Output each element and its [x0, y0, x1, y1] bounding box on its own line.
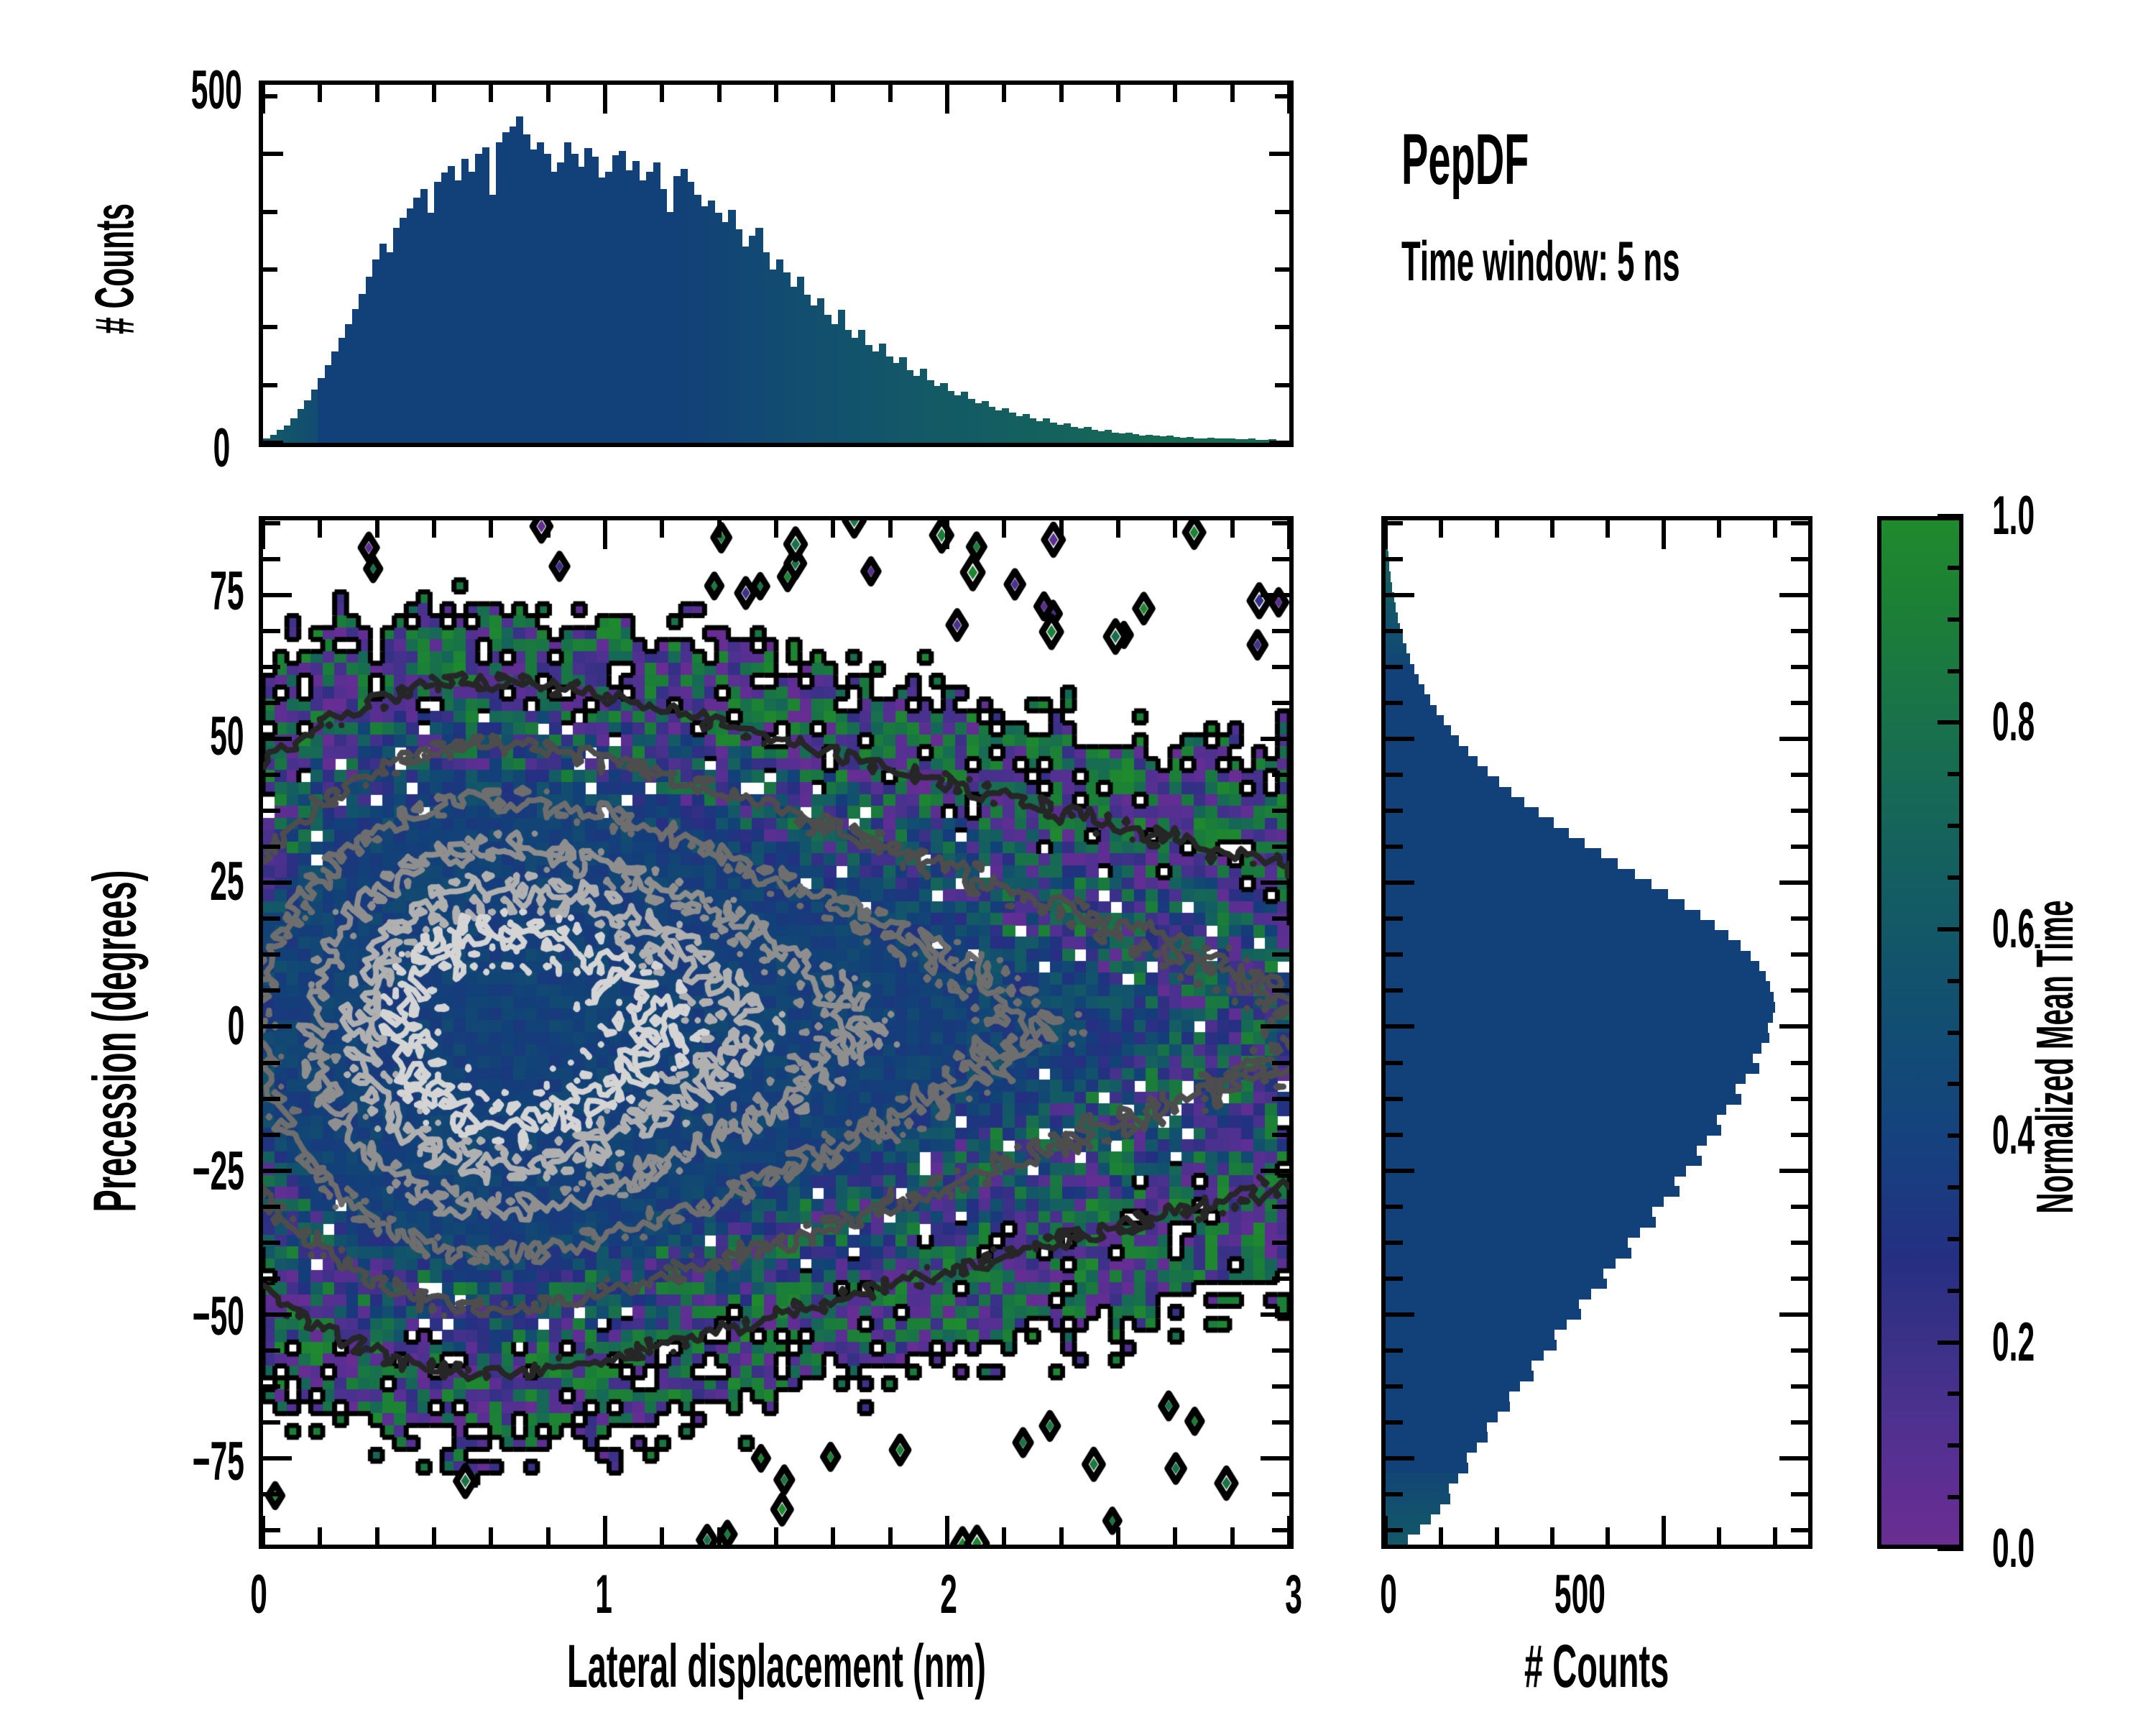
axis-tick — [318, 85, 322, 102]
axis-tick — [1386, 1528, 1403, 1532]
axis-tick — [1791, 845, 1808, 849]
axis-tick — [1002, 520, 1006, 538]
axis-tick — [1386, 665, 1403, 669]
axis-tick — [1173, 1527, 1177, 1545]
colorbar-tick — [1948, 617, 1963, 622]
axis-tick — [1791, 1133, 1808, 1137]
axis-tick — [1272, 988, 1289, 993]
axis-tick — [774, 520, 778, 538]
axis-tick — [263, 1348, 280, 1353]
axis-tick — [1272, 1528, 1289, 1532]
axis-tick — [263, 267, 277, 272]
axis-tick — [831, 1527, 835, 1545]
axis-tick — [1779, 593, 1808, 597]
colorbar-tick — [1948, 772, 1963, 776]
axis-tick — [603, 1516, 607, 1545]
colorbar-tick — [1948, 669, 1963, 673]
axis-tick — [1606, 1527, 1610, 1545]
right-histogram-ticks — [1386, 520, 1808, 1545]
main-plot-xtick-2: 2 — [884, 1563, 1013, 1626]
axis-tick — [1386, 1456, 1414, 1460]
axis-tick — [1550, 520, 1554, 538]
axis-tick — [888, 85, 893, 102]
axis-tick — [263, 737, 292, 741]
axis-tick — [1272, 773, 1289, 777]
colorbar-tick — [1948, 1133, 1963, 1138]
axis-tick — [263, 593, 292, 597]
axis-tick — [1791, 1205, 1808, 1209]
axis-tick — [1386, 1312, 1414, 1317]
colorbar-tick — [1948, 1031, 1963, 1035]
axis-tick — [263, 809, 280, 813]
axis-tick — [546, 520, 550, 538]
axis-tick — [1275, 267, 1289, 272]
axis-tick — [603, 85, 607, 114]
axis-tick — [432, 1527, 436, 1545]
axis-tick — [1116, 520, 1120, 538]
axis-tick — [318, 520, 322, 538]
axis-tick — [1272, 557, 1289, 561]
axis-tick — [1717, 520, 1721, 538]
axis-tick — [1173, 85, 1177, 102]
axis-tick — [1386, 1169, 1414, 1173]
axis-tick — [774, 1527, 778, 1545]
axis-tick — [1269, 441, 1289, 445]
axis-tick — [261, 85, 265, 114]
axis-tick — [263, 916, 280, 921]
axis-tick — [1059, 1527, 1064, 1545]
axis-tick — [1386, 1492, 1403, 1496]
axis-tick — [263, 1169, 292, 1173]
axis-tick — [263, 845, 280, 849]
axis-tick — [717, 85, 722, 102]
axis-tick — [1386, 629, 1403, 633]
colorbar-tick — [1938, 1340, 1963, 1345]
colorbar-tick-0: 1.0 — [1992, 484, 2156, 547]
axis-tick — [1791, 1492, 1808, 1496]
axis-tick — [1272, 809, 1289, 813]
right-histogram-xtick-0: 0 — [1367, 1563, 1410, 1626]
axis-tick — [717, 1527, 722, 1545]
axis-tick — [945, 85, 949, 114]
colorbar-tick — [1948, 1185, 1963, 1190]
axis-tick — [1791, 557, 1808, 561]
subtitle-time-window: Time window: 5 ns — [1401, 230, 1899, 292]
top-histogram-ytick-500: 500 — [151, 59, 230, 121]
axis-tick — [489, 520, 493, 538]
axis-tick — [1791, 988, 1808, 993]
axis-tick — [1272, 1097, 1289, 1101]
colorbar-label: Normalized Mean Time — [2026, 540, 2085, 1575]
axis-tick — [1272, 1205, 1289, 1209]
axis-tick — [1386, 1205, 1403, 1209]
axis-tick — [660, 1527, 664, 1545]
main-plot-xtick-3: 3 — [1229, 1563, 1358, 1626]
axis-tick — [263, 1312, 292, 1317]
axis-tick — [1386, 1024, 1414, 1029]
main-plot-xtick-1: 1 — [539, 1563, 668, 1626]
axis-tick — [1287, 85, 1291, 114]
axis-tick — [263, 557, 280, 561]
main-heatmap-plot — [259, 516, 1294, 1549]
right-histogram-xlabel: # Counts — [1381, 1632, 1812, 1701]
axis-tick — [1059, 85, 1064, 102]
axis-tick — [1606, 520, 1610, 538]
axis-tick — [1272, 1133, 1289, 1137]
axis-tick — [1791, 809, 1808, 813]
axis-tick — [1386, 880, 1414, 885]
axis-tick — [1230, 85, 1235, 102]
axis-tick — [263, 880, 292, 885]
axis-tick — [831, 520, 835, 538]
colorbar-tick — [1938, 514, 1963, 518]
axis-tick — [1779, 1169, 1808, 1173]
axis-tick — [489, 1527, 493, 1545]
axis-tick — [1272, 521, 1289, 525]
main-plot-ylabel: Precession (degrees) — [80, 524, 150, 1559]
axis-tick — [263, 325, 277, 329]
axis-tick — [1439, 520, 1443, 538]
colorbar-tick — [1948, 1082, 1963, 1086]
axis-tick — [1272, 1241, 1289, 1245]
axis-tick — [1386, 1061, 1403, 1065]
axis-tick — [1275, 210, 1289, 214]
axis-tick — [717, 520, 722, 538]
axis-tick — [1261, 880, 1289, 885]
axis-tick — [888, 1527, 893, 1545]
axis-tick — [375, 520, 379, 538]
axis-tick — [263, 210, 277, 214]
axis-tick — [1791, 521, 1808, 525]
axis-tick — [1275, 383, 1289, 387]
colorbar-tick — [1948, 1289, 1963, 1293]
axis-tick — [1779, 1312, 1808, 1317]
colorbar-ticks — [1877, 516, 1963, 1549]
axis-tick — [1779, 1456, 1808, 1460]
axis-tick — [1791, 952, 1808, 957]
axis-tick — [1773, 1527, 1777, 1545]
axis-tick — [1386, 557, 1403, 561]
axis-tick — [1386, 916, 1403, 921]
axis-tick — [1495, 1527, 1499, 1545]
axis-tick — [1791, 773, 1808, 777]
axis-tick — [1272, 1492, 1289, 1496]
axis-tick — [263, 1024, 292, 1029]
axis-tick — [1779, 737, 1808, 741]
top-marginal-histogram — [259, 80, 1294, 447]
axis-tick — [263, 1241, 280, 1245]
right-marginal-histogram — [1381, 516, 1812, 1549]
main-plot-ticks — [263, 520, 1289, 1545]
axis-tick — [1662, 1516, 1666, 1545]
axis-tick — [660, 85, 664, 102]
colorbar — [1877, 516, 1963, 1549]
axis-tick — [1272, 629, 1289, 633]
axis-tick — [1269, 152, 1289, 156]
axis-tick — [1230, 1527, 1235, 1545]
axis-tick — [1386, 988, 1403, 993]
axis-tick — [1116, 85, 1120, 102]
axis-tick — [1059, 520, 1064, 538]
colorbar-tick — [1948, 1495, 1963, 1499]
top-histogram-ticks — [263, 85, 1289, 443]
axis-tick — [1261, 1456, 1289, 1460]
axis-tick — [1272, 952, 1289, 957]
axis-tick — [1791, 629, 1808, 633]
axis-tick — [432, 520, 436, 538]
axis-tick — [263, 521, 280, 525]
axis-tick — [263, 441, 283, 445]
axis-tick — [1272, 1061, 1289, 1065]
top-histogram-ylabel: # Counts — [84, 118, 147, 420]
axis-tick — [831, 85, 835, 102]
axis-tick — [1779, 880, 1808, 885]
colorbar-tick — [1948, 1237, 1963, 1241]
axis-tick — [263, 988, 280, 993]
right-histogram-xtick-500: 500 — [1515, 1563, 1644, 1626]
axis-tick — [375, 1527, 379, 1545]
axis-tick — [1439, 1527, 1443, 1545]
axis-tick — [1791, 916, 1808, 921]
axis-tick — [1272, 701, 1289, 705]
colorbar-tick — [1938, 720, 1963, 724]
colorbar-tick — [1948, 1391, 1963, 1396]
axis-tick — [263, 629, 280, 633]
axis-tick — [546, 1527, 550, 1545]
axis-tick — [546, 85, 550, 102]
axis-tick — [1173, 520, 1177, 538]
axis-tick — [263, 701, 280, 705]
main-plot-xtick-0: 0 — [194, 1563, 323, 1626]
axis-tick — [263, 1492, 280, 1496]
axis-tick — [1230, 520, 1235, 538]
axis-tick — [1791, 1384, 1808, 1389]
axis-tick — [263, 1384, 280, 1389]
colorbar-tick — [1948, 1443, 1963, 1448]
axis-tick — [1386, 1097, 1403, 1101]
axis-tick — [263, 1133, 280, 1137]
axis-tick — [1386, 1133, 1403, 1137]
axis-tick — [263, 773, 280, 777]
axis-tick — [1773, 520, 1777, 538]
axis-tick — [1275, 325, 1289, 329]
main-plot-xlabel: Lateral displacement (nm) — [259, 1632, 1294, 1701]
axis-tick — [1386, 845, 1403, 849]
axis-tick — [263, 1528, 280, 1532]
axis-tick — [1002, 85, 1006, 102]
axis-tick — [660, 520, 664, 538]
axis-tick — [1386, 773, 1403, 777]
axis-tick — [1386, 701, 1403, 705]
axis-tick — [1261, 1312, 1289, 1317]
axis-tick — [1791, 1528, 1808, 1532]
axis-tick — [1550, 1527, 1554, 1545]
axis-tick — [1386, 1276, 1403, 1281]
axis-tick — [774, 85, 778, 102]
axis-tick — [1779, 1024, 1808, 1029]
axis-tick — [1386, 809, 1403, 813]
axis-tick — [1386, 1348, 1403, 1353]
axis-tick — [945, 1516, 949, 1545]
axis-tick — [263, 1097, 280, 1101]
axis-tick — [1791, 1097, 1808, 1101]
axis-tick — [263, 94, 277, 98]
axis-tick — [375, 85, 379, 102]
axis-tick — [1386, 1420, 1403, 1425]
axis-tick — [1495, 520, 1499, 538]
axis-tick — [1386, 952, 1403, 957]
page-title: PepDF — [1401, 122, 1899, 197]
axis-tick — [1791, 1348, 1808, 1353]
axis-tick — [1116, 1527, 1120, 1545]
colorbar-tick — [1938, 1547, 1963, 1551]
colorbar-tick — [1938, 927, 1963, 931]
axis-tick — [1386, 593, 1414, 597]
axis-tick — [1662, 520, 1666, 549]
axis-tick — [1261, 1024, 1289, 1029]
axis-tick — [1791, 1276, 1808, 1281]
axis-tick — [1272, 1384, 1289, 1389]
axis-tick — [263, 383, 277, 387]
axis-tick — [263, 152, 283, 156]
axis-tick — [945, 520, 949, 549]
axis-tick — [1791, 1241, 1808, 1245]
axis-tick — [1791, 665, 1808, 669]
axis-tick — [263, 1420, 280, 1425]
colorbar-tick — [1948, 566, 1963, 570]
axis-tick — [318, 1527, 322, 1545]
axis-tick — [489, 85, 493, 102]
axis-tick — [603, 520, 607, 549]
top-histogram-ytick-0: 0 — [176, 417, 230, 479]
axis-tick — [1791, 701, 1808, 705]
axis-tick — [1386, 521, 1403, 525]
colorbar-tick — [1948, 979, 1963, 983]
axis-tick — [1386, 737, 1414, 741]
colorbar-tick — [1948, 875, 1963, 880]
axis-tick — [263, 1205, 280, 1209]
axis-tick — [1261, 1169, 1289, 1173]
axis-tick — [1791, 1061, 1808, 1065]
axis-tick — [1386, 1384, 1403, 1389]
axis-tick — [432, 85, 436, 102]
axis-tick — [263, 1456, 292, 1460]
axis-tick — [1272, 1276, 1289, 1281]
title-block: PepDF Time window: 5 ns — [1401, 122, 1899, 292]
axis-tick — [1717, 1527, 1721, 1545]
axis-tick — [263, 665, 280, 669]
axis-tick — [1261, 737, 1289, 741]
axis-tick — [1272, 665, 1289, 669]
axis-tick — [1261, 593, 1289, 597]
axis-tick — [1272, 1348, 1289, 1353]
axis-tick — [1272, 1420, 1289, 1425]
axis-tick — [1791, 1420, 1808, 1425]
axis-tick — [263, 1276, 280, 1281]
axis-tick — [263, 952, 280, 957]
axis-tick — [1002, 1527, 1006, 1545]
axis-tick — [1386, 1241, 1403, 1245]
axis-tick — [1272, 916, 1289, 921]
colorbar-tick — [1948, 824, 1963, 828]
axis-tick — [263, 1061, 280, 1065]
axis-tick — [888, 520, 893, 538]
axis-tick — [1272, 845, 1289, 849]
